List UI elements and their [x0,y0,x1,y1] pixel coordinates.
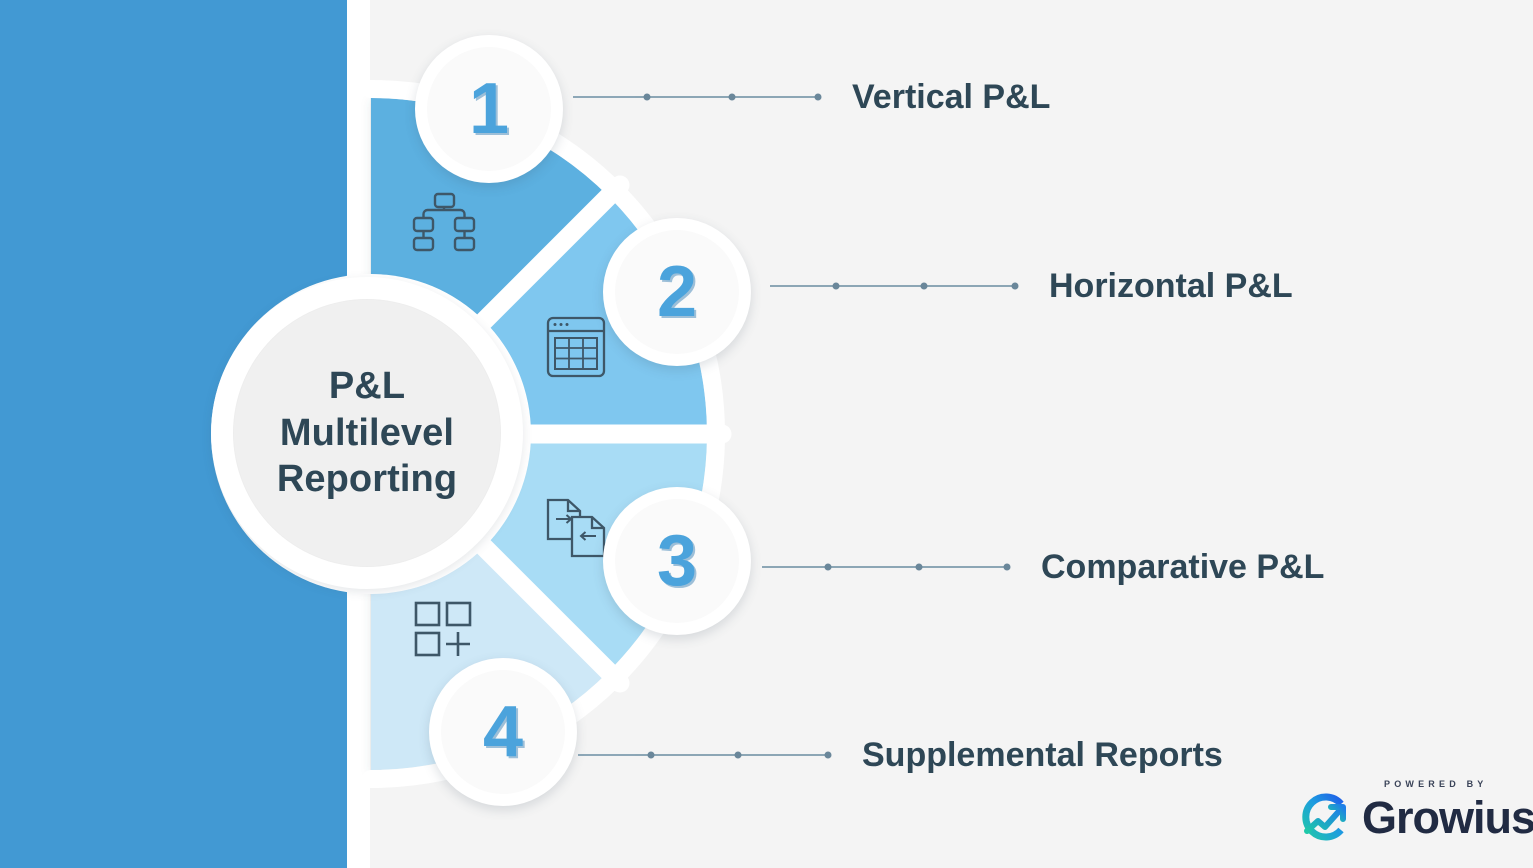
growius-name: Growius [1362,792,1533,843]
growius-logo[interactable]: POWERED BY Growius [1297,790,1533,844]
connector-line-3 [762,566,1007,568]
connector-dot [921,283,928,290]
step-badge-3[interactable]: 3 [603,487,751,635]
step-badge-2-inner: 2 [615,230,739,354]
compare-documents-icon [545,497,607,559]
connector-line-4 [578,754,828,756]
connector-dot [729,94,736,101]
step-label-1: Vertical P&L [852,78,1050,117]
growius-mark-icon [1297,790,1353,844]
step-badge-3-inner: 3 [615,499,739,623]
growius-wordmark: POWERED BY Growius [1362,795,1533,840]
center-hub-title: P&L Multilevel Reporting [277,363,457,502]
add-tile-icon [414,601,474,657]
spreadsheet-window-icon [546,316,606,378]
connector-dot [647,752,654,759]
step-number-1: 1 [469,73,509,145]
step-badge-2[interactable]: 2 [603,218,751,366]
step-number-3: 3 [657,525,697,597]
infographic-canvas: P&L Multilevel Reporting [0,0,1533,868]
step-badge-4-inner: 4 [441,670,565,794]
step-number-4: 4 [483,696,523,768]
center-hub-inner: P&L Multilevel Reporting [233,299,501,567]
connector-dot [643,94,650,101]
step-number-2: 2 [657,256,697,328]
connector-dot [915,564,922,571]
connector-dot [735,752,742,759]
powered-by-kicker: POWERED BY [1384,780,1488,789]
connector-dot [833,283,840,290]
step-label-4: Supplemental Reports [862,736,1223,775]
step-label-3: Comparative P&L [1041,548,1324,587]
step-row-3[interactable]: Comparative P&L [762,547,1324,587]
connector-dot [825,564,832,571]
connector-dot [1004,564,1011,571]
step-badge-4[interactable]: 4 [429,658,577,806]
connector-dot [1012,283,1019,290]
center-hub: P&L Multilevel Reporting [211,277,523,589]
step-label-2: Horizontal P&L [1049,267,1293,306]
step-badge-1[interactable]: 1 [415,35,563,183]
step-row-1[interactable]: Vertical P&L [573,77,1050,117]
connector-line-2 [770,285,1015,287]
connector-line-1 [573,96,818,98]
connector-dot [825,752,832,759]
org-chart-icon [412,192,476,252]
connector-dot [815,94,822,101]
step-row-2[interactable]: Horizontal P&L [770,266,1293,306]
step-row-4[interactable]: Supplemental Reports [578,735,1223,775]
step-badge-1-inner: 1 [427,47,551,171]
